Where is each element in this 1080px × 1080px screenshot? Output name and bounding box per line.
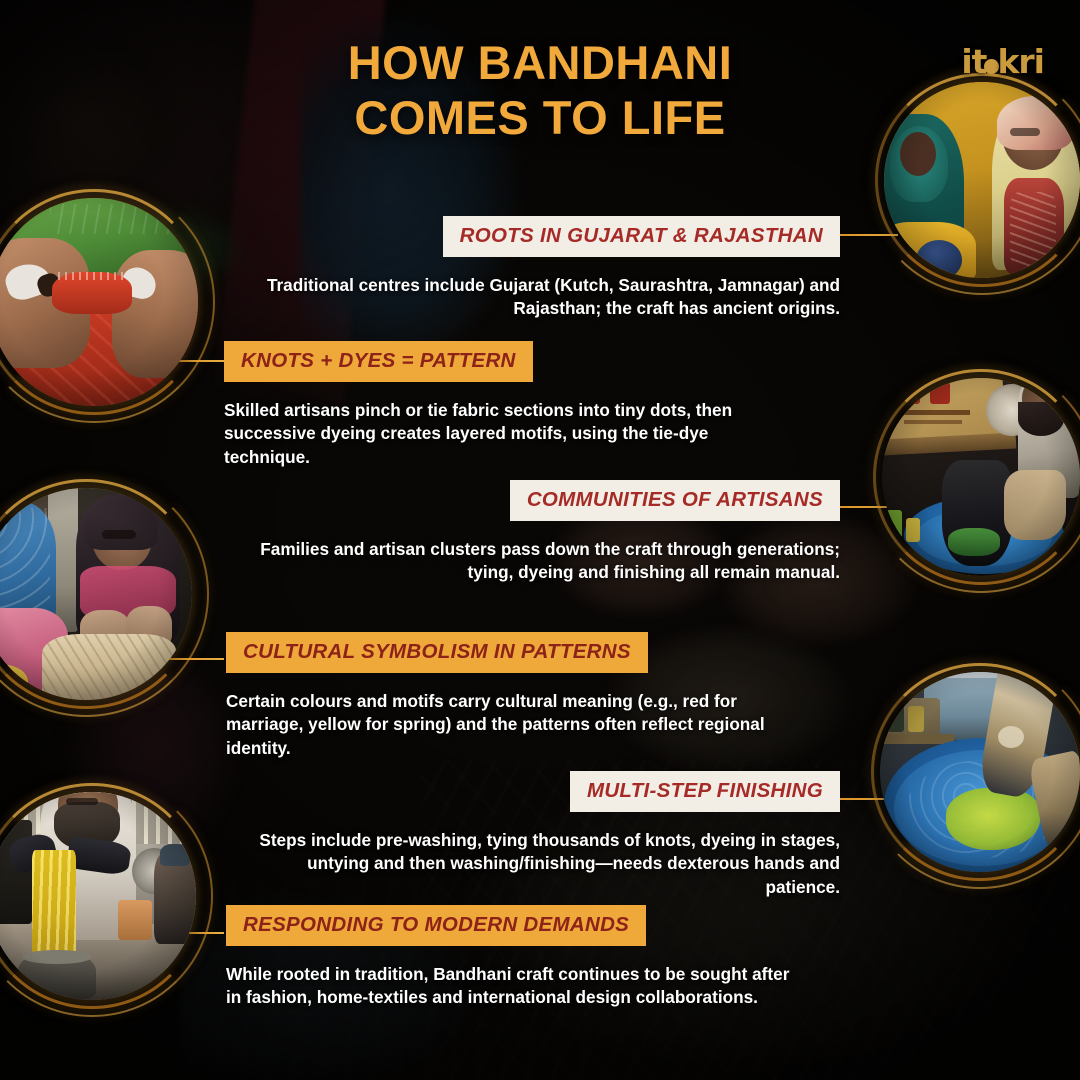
brand-logo-text-2: kri: [997, 42, 1044, 81]
section-body-knots: Skilled artisans pinch or tie fabric sec…: [224, 399, 790, 469]
section-header-communities: COMMUNITIES OF ARTISANS: [510, 480, 840, 521]
section-modern: RESPONDING TO MODERN DEMANDS While roote…: [226, 905, 792, 1010]
section-header-symbolism: CULTURAL SYMBOLISM IN PATTERNS: [226, 632, 648, 673]
photo-hands-red-fabric: [0, 198, 198, 406]
photo-blue-dye-vat: [880, 672, 1080, 872]
section-finishing: MULTI-STEP FINISHING Steps include pre-w…: [248, 771, 840, 899]
infographic-canvas: HOW BANDHANI COMES TO LIFE itkri: [0, 0, 1080, 1080]
section-header-modern: RESPONDING TO MODERN DEMANDS: [226, 905, 646, 946]
page-title-line-1: HOW BANDHANI: [348, 36, 733, 89]
section-header-knots: KNOTS + DYES = PATTERN: [224, 341, 533, 382]
section-communities: COMMUNITIES OF ARTISANS Families and art…: [248, 480, 840, 585]
section-knots: KNOTS + DYES = PATTERN Skilled artisans …: [224, 341, 790, 469]
photo-yellow-dyed-cloth: [0, 792, 196, 1000]
section-header-finishing: MULTI-STEP FINISHING: [570, 771, 840, 812]
page-title-line-2: COMES TO LIFE: [0, 91, 1080, 146]
section-header-roots: ROOTS IN GUJARAT & RAJASTHAN: [443, 216, 840, 257]
section-symbolism: CULTURAL SYMBOLISM IN PATTERNS Certain c…: [226, 632, 792, 760]
brand-logo-text: it: [961, 42, 986, 81]
page-title: HOW BANDHANI COMES TO LIFE: [0, 36, 1080, 145]
section-body-symbolism: Certain colours and motifs carry cultura…: [226, 690, 792, 760]
section-roots: ROOTS IN GUJARAT & RAJASTHAN Traditional…: [248, 216, 840, 321]
section-body-roots: Traditional centres include Gujarat (Kut…: [248, 274, 840, 321]
section-body-communities: Families and artisan clusters pass down …: [248, 538, 840, 585]
section-body-finishing: Steps include pre-washing, tying thousan…: [248, 829, 840, 899]
photo-women-cream-cloth: [0, 488, 192, 700]
brand-logo[interactable]: itkri: [961, 42, 1044, 81]
section-body-modern: While rooted in tradition, Bandhani craf…: [226, 963, 792, 1010]
photo-dyer-blue-tub: [882, 378, 1080, 576]
